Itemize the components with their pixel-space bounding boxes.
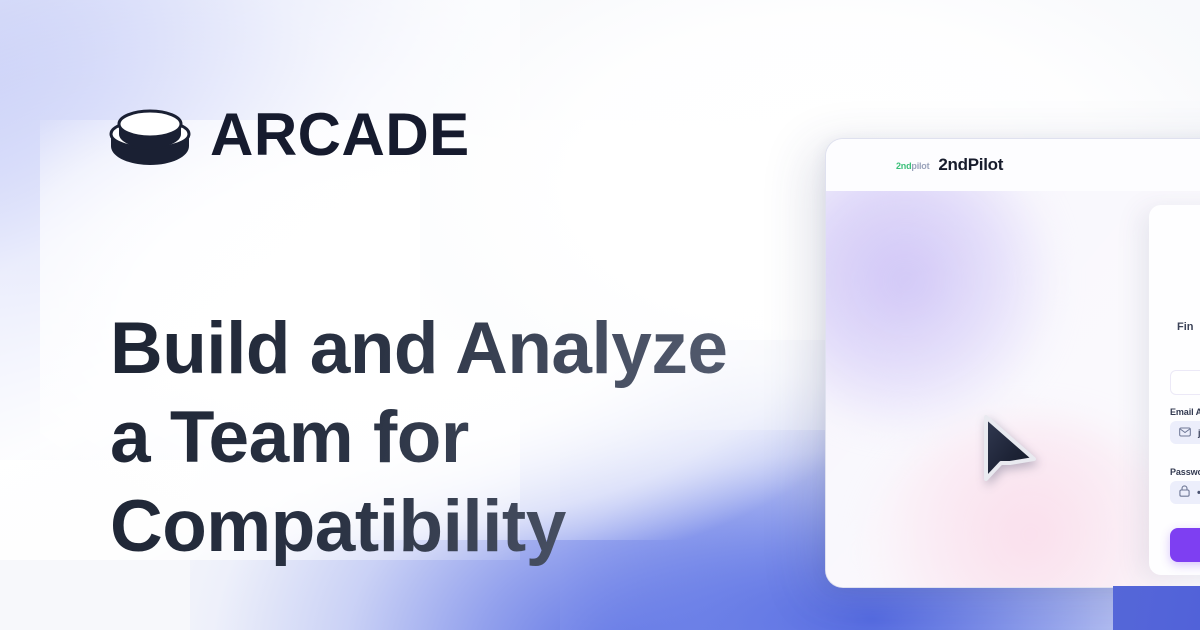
password-field[interactable]: ••• xyxy=(1170,481,1200,504)
signup-form-card: Fin Email Ad ja Password xyxy=(1149,205,1200,575)
promo-banner: ARCADE Build and Analyze a Team for Comp… xyxy=(0,0,1200,630)
lock-icon xyxy=(1179,484,1190,502)
arcade-button-icon xyxy=(108,104,192,166)
envelope-icon xyxy=(1179,424,1191,442)
brand-name: ARCADE xyxy=(210,105,470,165)
background-blue-band xyxy=(1113,586,1200,630)
brand-lockup: ARCADE xyxy=(108,104,470,166)
app-topbar: 2ndpilot 2ndPilot xyxy=(826,139,1200,191)
app-preview-window: 2ndpilot 2ndPilot xyxy=(825,138,1200,588)
password-field-label: Password xyxy=(1170,467,1200,477)
email-field[interactable]: ja xyxy=(1170,421,1200,444)
email-field-label: Email Ad xyxy=(1170,407,1200,417)
logo-mark-suffix: pilot xyxy=(911,162,929,171)
submit-button[interactable] xyxy=(1170,528,1200,562)
app-title: 2ndPilot xyxy=(938,155,1003,175)
app-body-sheen xyxy=(826,191,1200,587)
first-name-input[interactable] xyxy=(1170,370,1200,395)
2ndpilot-logo-icon: 2ndpilot xyxy=(896,162,929,171)
page-title: Build and Analyze a Team for Compatibili… xyxy=(110,304,790,571)
app-body: Fin Email Ad ja Password xyxy=(826,191,1200,587)
form-heading: Fin xyxy=(1177,321,1194,333)
logo-mark-prefix: 2nd xyxy=(896,162,911,171)
mouse-pointer-cursor xyxy=(978,413,1042,485)
